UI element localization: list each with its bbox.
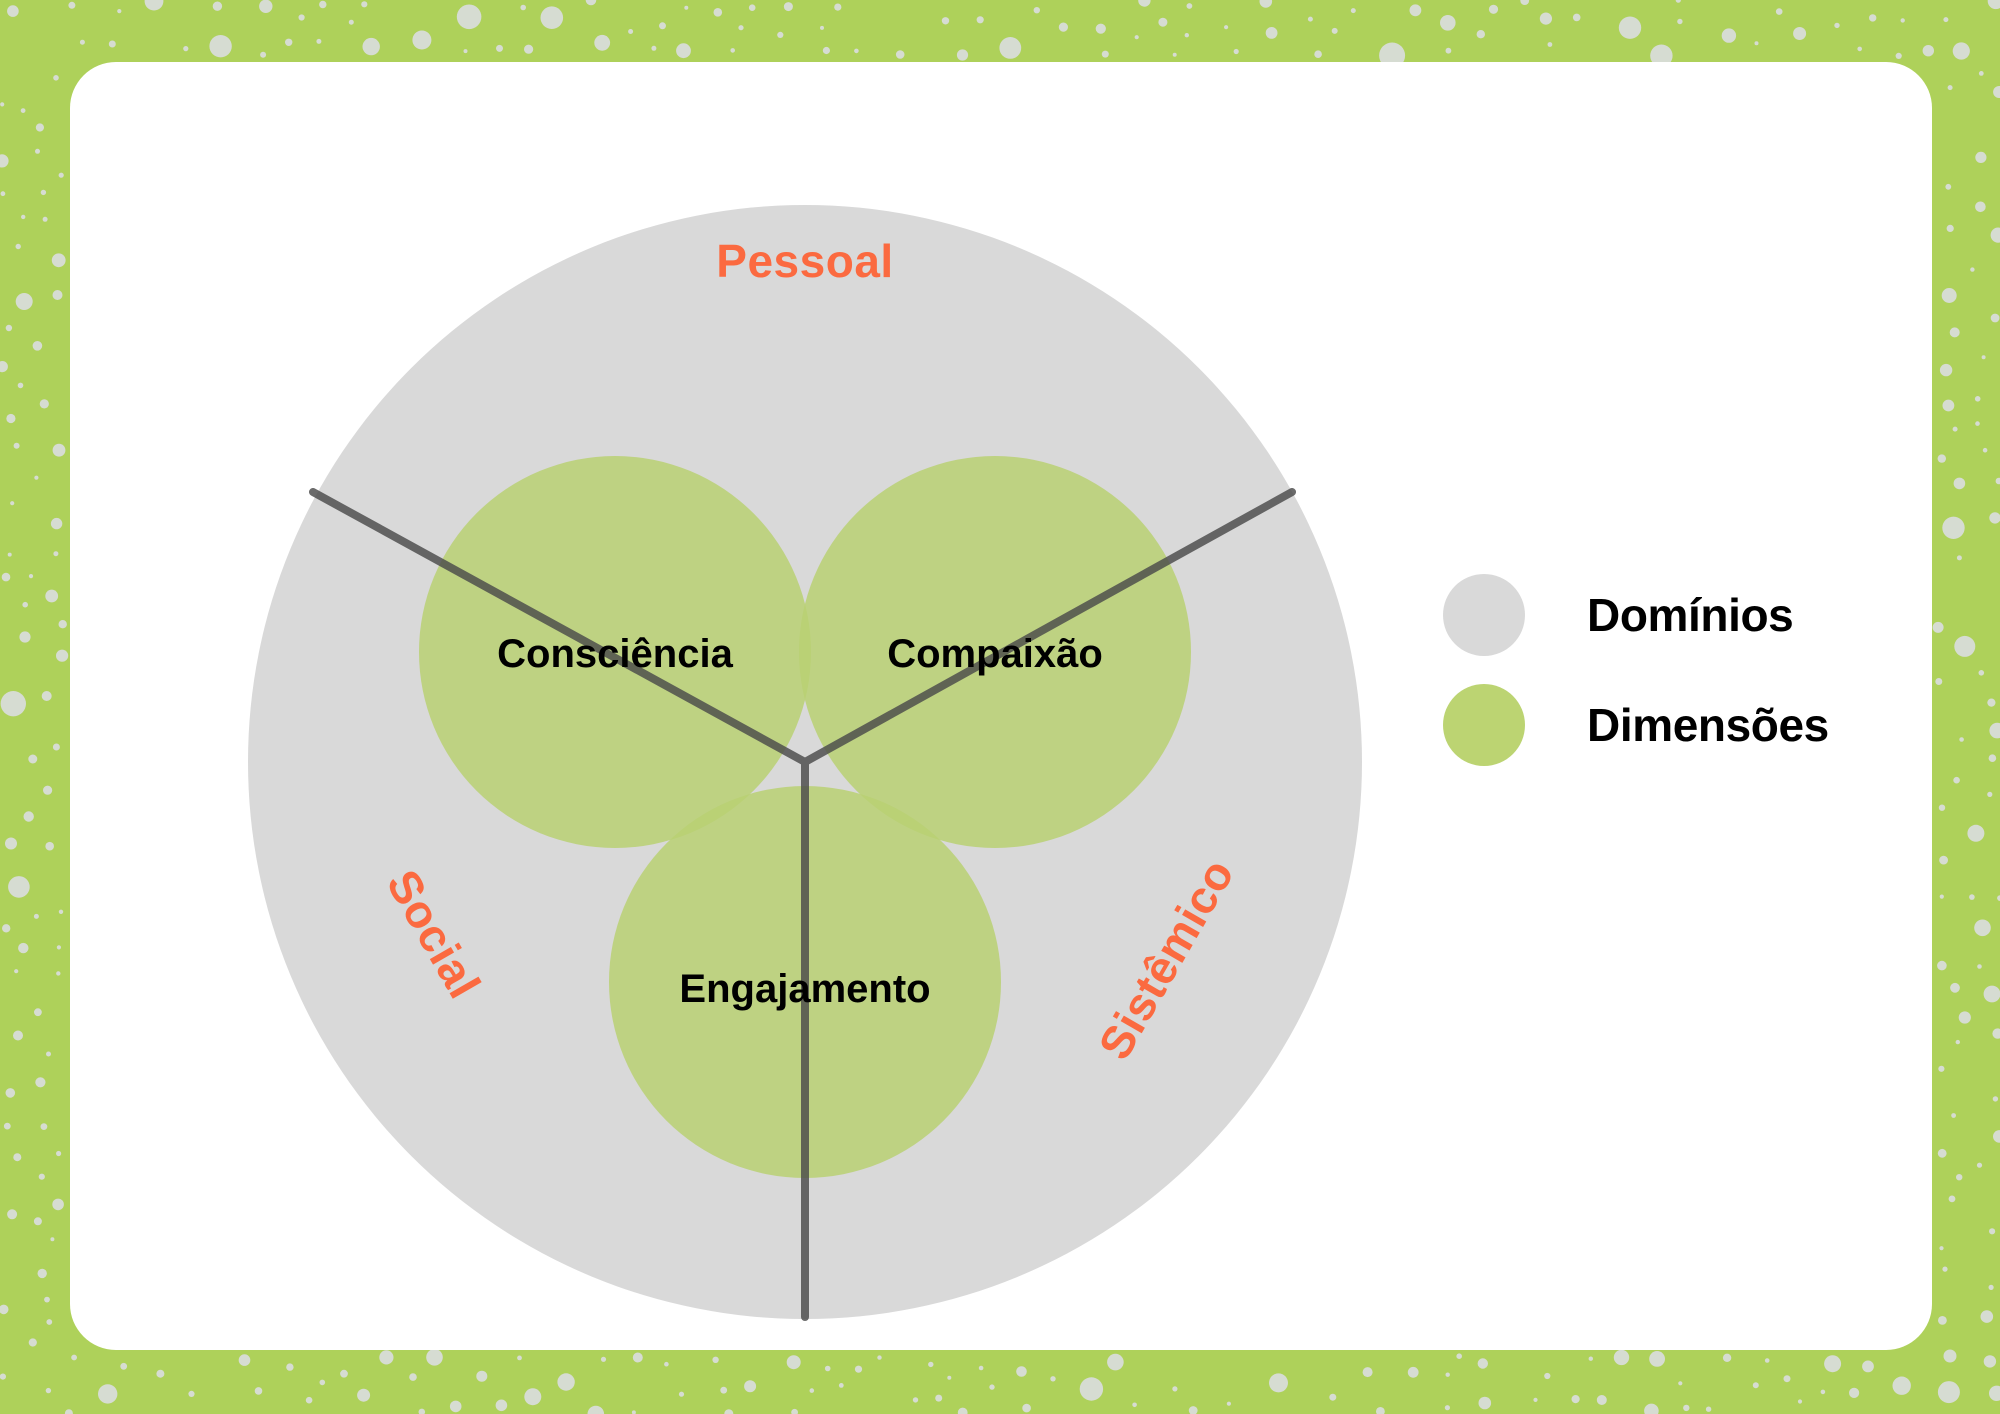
speckle-dot [1969,894,1975,900]
speckle-dot [34,476,38,480]
speckle-dot [10,501,14,505]
speckle-dot [1938,1316,1947,1325]
speckle-dot [1939,856,1948,865]
speckle-dot [1533,1398,1537,1402]
speckle-dot [1951,1113,1956,1118]
speckle-dot [1793,27,1806,40]
speckle-dot [1135,35,1139,39]
speckle-dot [979,1366,984,1371]
speckle-dot [1540,13,1552,25]
speckle-dot [117,9,121,13]
speckle-dot [1260,0,1273,8]
speckle-dot [14,969,18,973]
speckle-dot [1016,1366,1027,1377]
speckle-dot [913,1397,918,1402]
speckle-dot [834,4,841,11]
speckle-dot [53,744,60,751]
speckle-dot [1970,267,1974,271]
speckle-dot [651,46,656,51]
speckle-dot [1678,1381,1682,1385]
speckle-dot [56,1151,61,1156]
speckle-dot [791,1409,798,1414]
speckle-dot [18,943,28,953]
speckle-dot [1989,754,1997,762]
speckle-dot [1988,0,2000,9]
speckle-dot [1753,1382,1759,1388]
speckle-dot [1991,314,2000,323]
speckle-dot [53,290,63,300]
speckle-dot [319,1,326,8]
speckle-dot [1849,1388,1859,1398]
speckle-dot [1942,288,1957,303]
speckle-dot [156,1370,164,1378]
speckle-dot [56,650,68,662]
speckle-dot [28,755,37,764]
speckle-dot [1755,41,1759,45]
speckle-dot [684,6,688,10]
speckle-dot [13,1031,23,1041]
speckle-dot [1446,48,1452,54]
speckle-dot [679,1392,684,1397]
speckle-dot [34,914,39,919]
speckle-dot [29,574,33,578]
speckle-dot [1938,1381,1960,1403]
speckle-dot [1989,1285,1994,1290]
speckle-dot [877,1355,881,1359]
speckle-dot [7,5,19,17]
speckle-dot [1944,1350,1957,1363]
speckle-dot [357,1389,370,1402]
speckle-dot [1723,1354,1731,1362]
poster-canvas: Pessoal Social Sistêmico Consciência Com… [0,0,2000,1414]
speckle-dot [1096,24,1106,34]
white-card: Pessoal Social Sistêmico Consciência Com… [70,62,1932,1350]
speckle-dot [1956,1174,1962,1180]
speckle-dot [989,1384,994,1389]
speckle-dot [1676,0,1681,3]
speckle-dot [53,75,59,81]
speckle-dot [1989,512,2000,523]
speckle-dot [1896,53,1902,59]
speckle-dot [1959,1011,1971,1023]
speckle-dot [1987,699,1995,707]
speckle-dot [524,1388,541,1405]
speckle-dot [749,4,756,11]
speckle-dot [426,1349,443,1366]
speckle-dot [1776,8,1783,15]
speckle-dot [1935,678,1942,685]
speckle-dot [145,0,164,11]
speckle-dot [36,123,44,131]
speckle-dot [1943,17,1948,22]
speckle-dot [1185,33,1189,37]
speckle-dot [35,149,40,154]
speckle-dot [285,39,292,46]
speckle-dot [39,1174,45,1180]
speckle-dot [1975,202,1986,213]
speckle-dot [22,602,28,608]
speckle-dot [744,1380,756,1392]
speckle-dot [1957,555,1962,560]
speckle-dot [80,40,85,45]
speckle-dot [1975,396,1981,402]
speckle-dot [1979,71,1984,76]
speckle-dot [1266,27,1278,39]
speckle-dot [183,46,188,51]
speckle-dot [1589,1357,1593,1361]
speckle-dot [14,443,20,449]
speckle-dot [1520,0,1529,5]
speckle-dot [56,971,60,975]
speckle-dot [57,945,61,949]
speckle-dot [1857,47,1862,52]
speckle-dot [1172,1386,1177,1391]
speckle-dot [496,45,503,52]
speckle-dot [1329,1394,1336,1401]
speckle-dot [1984,986,2000,1003]
speckle-dot [1649,1351,1665,1367]
speckle-dot [1862,1361,1874,1373]
speckle-dot [1332,28,1338,34]
speckle-dot [1983,448,1988,453]
speckle-dot [18,383,24,389]
speckle-dot [35,1077,45,1087]
speckle-dot [21,108,26,113]
speckle-dot [1765,1358,1770,1363]
speckle-dot [1351,8,1356,13]
speckle-dot [823,47,830,54]
speckle-dot [1080,1377,1103,1400]
speckle-dot [379,1350,393,1364]
speckle-dot [6,414,15,423]
speckle-dot [1993,86,2000,98]
speckle-dot [98,1384,117,1403]
speckle-dot [999,37,1021,59]
speckle-dot [496,1400,508,1412]
speckle-dot [784,2,793,11]
speckle-dot [6,1088,16,1098]
speckle-dot [1942,1267,1947,1272]
speckle-dot [286,1363,293,1370]
speckle-dot [1824,1355,1841,1372]
speckle-dot [1953,427,1958,432]
speckle-dot [13,1153,21,1161]
speckle-dot [1981,1310,1994,1323]
speckle-dot [0,361,8,372]
speckle-dot [1597,1395,1607,1405]
speckle-dot [1948,85,1953,90]
speckle-dot [1314,50,1322,58]
speckle-dot [896,50,905,59]
speckle-dot [59,910,63,914]
speckle-dot [632,1410,636,1414]
speckle-dot [46,1388,51,1393]
speckle-dot [935,1395,942,1402]
speckle-dot [1138,0,1150,7]
speckle-dot [2,924,10,932]
speckle-dot [1798,1399,1802,1403]
speckle-dot [65,1409,73,1414]
speckle-dot [1477,30,1485,38]
speckle-dot [712,1357,718,1363]
speckle-dot [1544,1373,1550,1379]
speckle-dot [1158,18,1167,27]
speckle-dot [1977,964,1982,969]
speckle-dot [1984,1355,1996,1367]
speckle-dot [1022,1404,1031,1413]
speckle-dot [361,1,367,7]
speckle-dot [928,1362,933,1367]
speckle-dot [541,6,564,29]
speckle-dot [520,5,526,11]
speckle-dot [120,1363,127,1370]
speckle-dot [1893,1377,1911,1395]
speckle-dot [1,191,6,196]
speckle-dot [1187,3,1193,9]
speckle-dot [1479,1397,1492,1410]
speckle-dot [1937,961,1947,971]
speckle-dot [53,444,66,457]
speckle-dot [777,32,783,38]
speckle-dot [855,1366,862,1373]
speckle-dot [0,1374,6,1380]
speckle-dot [1269,1373,1288,1392]
speckle-dot [1834,23,1839,28]
speckle-dot [188,1391,194,1397]
speckle-dot [299,14,305,20]
speckle-dot [8,553,12,557]
speckle-dot [464,49,468,53]
speckle-dot [1489,5,1498,14]
speckle-dot [34,1008,42,1016]
legend: Domínios Dimensões [1443,560,1883,780]
speckle-dot [1107,1354,1124,1371]
speckle-dot [1942,517,1964,539]
speckle-dot [1950,983,1960,993]
speckle-dot [306,1397,313,1404]
speckle-dot [1410,4,1422,16]
speckle-dot [839,1383,844,1388]
legend-label-dimensoes: Dimensões [1587,698,1829,752]
speckle-dot [50,1237,54,1241]
speckle-dot [659,22,666,29]
speckle-dot [68,2,75,9]
speckle-dot [958,1408,968,1414]
speckle-dot [0,1305,9,1315]
speckle-dot [1923,45,1934,56]
speckle-dot [524,45,533,54]
speckle-dot [1408,1367,1419,1378]
speckle-dot [45,842,54,851]
speckle-dot [557,1373,574,1390]
speckle-dot [412,31,431,50]
speckle-dot [1224,25,1228,29]
speckle-dot [19,631,30,642]
legend-item-dimensoes: Dimensões [1443,670,1883,780]
speckle-dot [1979,670,1985,676]
speckle-dot [1959,737,1964,742]
speckle-dot [1869,14,1876,21]
legend-label-dominios: Domínios [1587,588,1793,642]
speckle-dot [730,48,735,53]
speckle-dot [1945,184,1951,190]
speckle-dot [44,1297,50,1303]
speckle-dot [1989,1228,1995,1234]
speckle-dot [1132,1403,1137,1408]
speckle-dot [1644,1404,1659,1414]
speckle-dot [1949,1196,1956,1203]
speckle-dot [1619,17,1641,39]
speckle-dot [260,52,266,58]
speckle-dot [24,811,34,821]
speckle-dot [1683,1405,1689,1411]
speckle-dot [1308,17,1313,22]
legend-swatch-dominios [1443,574,1525,656]
speckle-dot [1784,1375,1791,1382]
speckle-dot [71,1355,77,1361]
speckle-dot [1987,792,1992,797]
speckle-dot [349,20,354,25]
speckle-dot [16,293,33,310]
speckle-dot [59,173,64,178]
speckle-dot [6,325,12,331]
speckle-dot [1993,1096,1998,1101]
speckle-dot [738,25,743,30]
speckle-dot [942,17,949,24]
speckle-dot [1938,1066,1944,1072]
speckle-dot [33,341,43,351]
speckle-dot [1940,364,1952,376]
speckle-dot [450,1401,462,1413]
speckle-dot [1943,400,1955,412]
speckle-dot [720,1387,727,1394]
speckle-dot [40,399,49,408]
speckle-dot [724,1409,733,1414]
speckle-dot [1954,636,1975,657]
speckle-dot [517,1356,522,1361]
speckle-dot [316,39,321,44]
speckle-dot [476,1371,487,1382]
speckle-dot [239,1354,251,1366]
speckle-dot [947,1376,951,1380]
speckle-dot [1956,1040,1960,1044]
speckle-dot [1706,1407,1711,1412]
speckle-dot [1050,1376,1055,1381]
speckle-dot [43,217,48,222]
speckle-dot [0,102,4,106]
speckle-dot [1173,53,1177,57]
speckle-dot [0,154,9,167]
legend-item-dominios: Domínios [1443,560,1883,670]
speckle-dot [1950,327,1960,337]
speckle-dot [8,876,30,898]
speckle-dot [1989,1386,2000,1401]
speckle-dot [787,1355,801,1369]
speckle-dot [53,551,58,556]
speckle-dot [1954,478,1966,490]
speckle-dot [340,1370,348,1378]
speckle-dot [633,1353,643,1363]
speckle-dot [46,1052,51,1057]
speckle-dot [2,573,11,582]
speckle-dot [409,1373,417,1381]
speckle-dot [363,38,380,55]
speckle-dot [820,26,824,30]
speckle-dot [1376,1407,1385,1414]
dimension-label-engajamento: Engajamento [679,967,930,1011]
speckle-dot [209,35,231,57]
speckle-dot [601,1357,606,1362]
speckle-dot [1363,1367,1373,1377]
domain-label-pessoal: Pessoal [716,235,893,287]
speckle-dot [1722,28,1736,42]
speckle-dot [45,590,58,603]
speckle-dot [16,244,21,249]
speckle-dot [1446,1373,1450,1377]
speckle-dot [810,1388,815,1393]
speckle-dot [1938,1149,1947,1158]
speckle-dot [1034,7,1040,13]
speckle-dot [594,35,610,51]
speckle-dot [1938,454,1946,462]
speckle-dot [586,0,597,5]
speckle-dot [52,1199,64,1211]
speckle-dot [51,518,62,529]
speckle-dot [1548,42,1553,47]
speckle-dot [1456,1353,1462,1359]
speckle-dot [977,16,984,23]
speckle-dot [1614,1350,1629,1365]
speckle-dot [1982,355,1986,359]
speckle-dot [664,1362,669,1367]
speckle-dot [259,0,272,13]
speckle-dot [1572,1395,1580,1403]
speckle-dot [1227,1402,1231,1406]
speckle-dot [1933,622,1944,633]
speckle-dot [1975,421,1980,426]
speckle-dot [1901,18,1905,22]
speckle-dot [1440,15,1456,31]
speckle-dot [714,8,723,17]
speckle-dot [419,1409,426,1414]
speckle-dot [38,1269,47,1278]
speckle-dot [41,190,46,195]
legend-swatch-dimensoes [1443,684,1525,766]
speckle-dot [1991,228,2000,243]
speckle-dot [42,691,52,701]
speckle-dot [1996,478,2000,485]
speckle-dot [1573,14,1581,22]
speckle-dot [1953,42,1970,59]
speckle-dot [1947,225,1954,232]
speckle-dot [213,2,222,11]
speckle-dot [255,1387,263,1395]
speckle-dot [1445,1405,1450,1410]
speckle-dot [1821,1390,1826,1395]
speckle-dot [29,1338,37,1346]
speckle-dot [1989,723,2000,739]
speckle-dot [1940,895,1944,899]
speckle-dot [7,1209,17,1219]
speckle-dot [588,1406,605,1414]
speckle-dot [457,4,482,29]
speckle-dot [34,1217,42,1225]
speckle-dot [109,41,116,48]
speckle-dot [1,691,26,716]
dimension-label-compaixao: Compaixão [887,632,1103,676]
speckle-dot [676,43,691,58]
speckle-dot [5,838,17,850]
